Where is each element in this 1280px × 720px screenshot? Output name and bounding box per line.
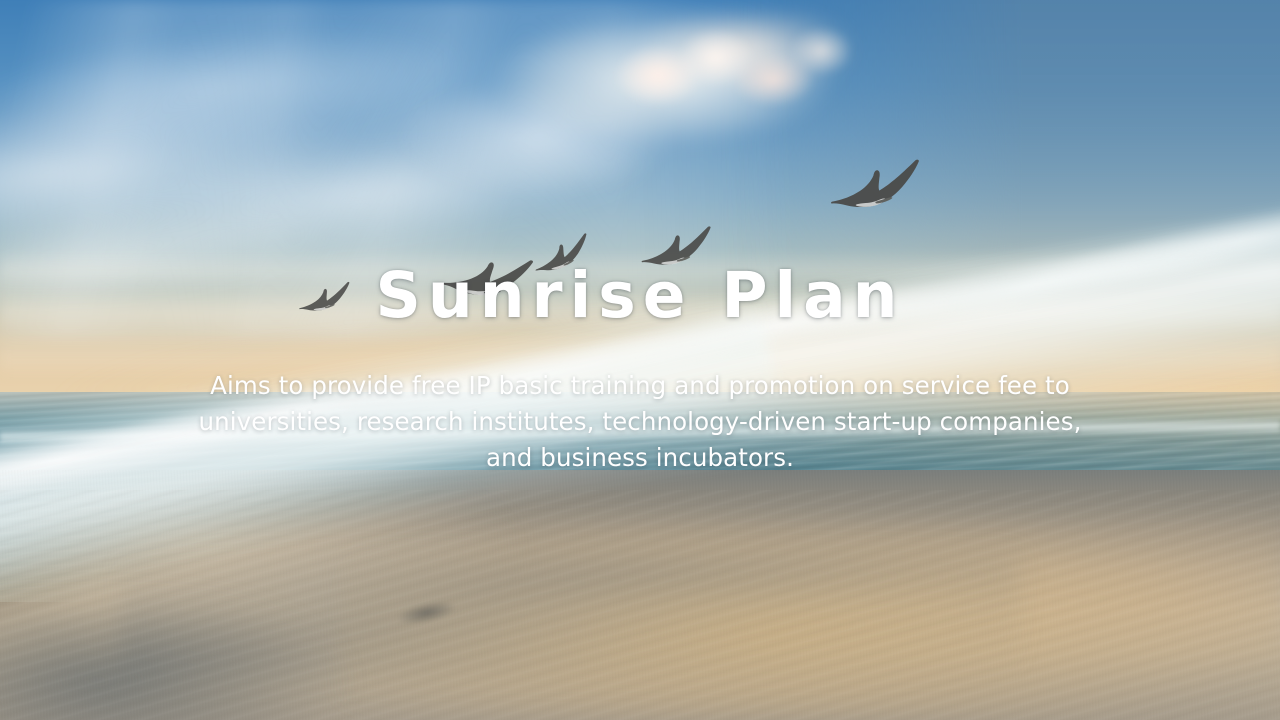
- presentation-slide: Sunrise Plan Aims to provide free IP bas…: [0, 0, 1280, 720]
- subtitle-line-1: Aims to provide free IP basic training a…: [190, 368, 1090, 404]
- slide-title: Sunrise Plan: [0, 261, 1280, 331]
- subtitle-line-2: universities, research institutes, techn…: [190, 404, 1090, 440]
- subtitle-line-3: and business incubators.: [190, 440, 1090, 476]
- slide-text-block: Sunrise Plan Aims to provide free IP bas…: [0, 0, 1280, 720]
- slide-subtitle: Aims to provide free IP basic training a…: [190, 368, 1090, 476]
